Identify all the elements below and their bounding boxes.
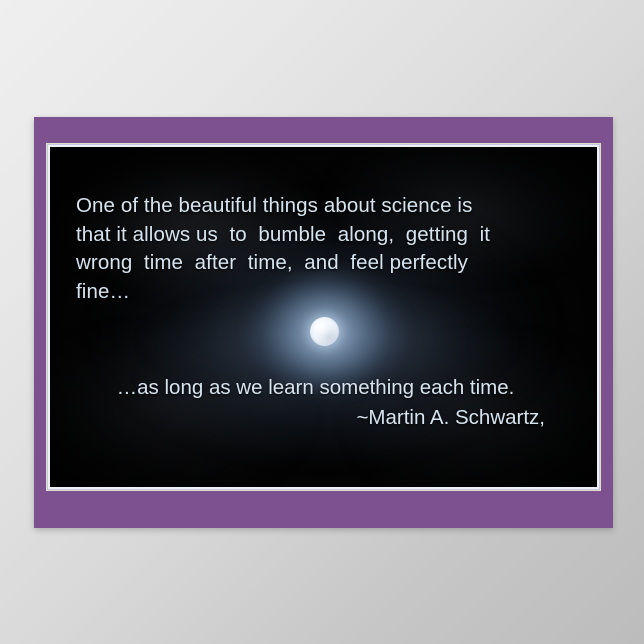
quote-line: that it allows us to bumble along, getti…	[76, 221, 547, 250]
quote-closing-line: …as long as we learn something each time…	[76, 373, 547, 403]
quote-line: One of the beautiful things about scienc…	[76, 192, 547, 221]
mat-border-cream: One of the beautiful things about scienc…	[46, 143, 601, 491]
poster-stage: One of the beautiful things about scienc…	[0, 0, 644, 644]
quote-line: fine…	[76, 278, 547, 307]
quote-closing-block: …as long as we learn something each time…	[76, 373, 547, 433]
quote-line: wrong time after time, and feel perfectl…	[76, 249, 547, 278]
quote-text: One of the beautiful things about scienc…	[76, 192, 547, 306]
poster-frame: One of the beautiful things about scienc…	[34, 117, 613, 528]
night-sky-photo: One of the beautiful things about scienc…	[50, 147, 597, 487]
quote-attribution: ~Martin A. Schwartz,	[76, 403, 547, 433]
mat-border-white: One of the beautiful things about scienc…	[48, 145, 599, 489]
moon-icon	[310, 317, 339, 346]
mat-border-lavender: One of the beautiful things about scienc…	[47, 144, 600, 490]
